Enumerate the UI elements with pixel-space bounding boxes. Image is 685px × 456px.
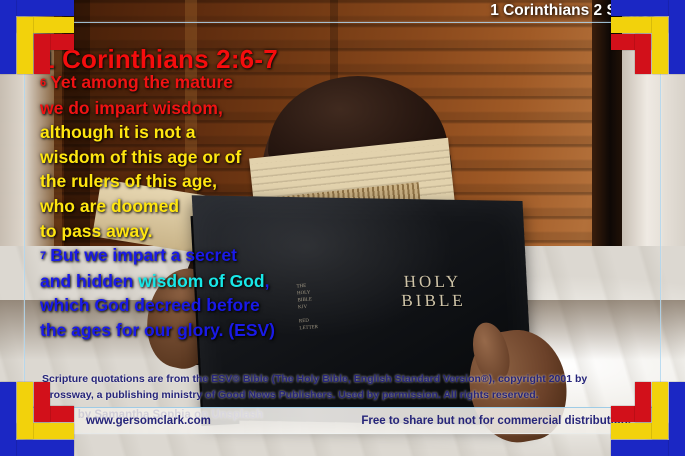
corner-decoration-top-right	[609, 0, 685, 76]
corner-decoration-top-left	[0, 0, 76, 76]
verse-line: we do impart wisdom,	[40, 96, 350, 121]
corner-bar-vertical	[0, 0, 16, 74]
bible-cover-title-line1: HOLY	[403, 272, 462, 291]
corner-bar-vertical	[17, 17, 33, 74]
bible-cover-title: HOLY BIBLE	[362, 272, 504, 310]
verse-number: 7	[40, 250, 49, 262]
corner-bar-vertical	[669, 0, 685, 74]
copyright-notice: Scripture quotations are from the ESV® B…	[42, 372, 632, 403]
verse-line: 6 Yet among the mature	[40, 70, 350, 96]
verse-line: wisdom of this age or of	[40, 145, 350, 170]
bottom-bar: www.gersomclark.com Free to share but no…	[24, 407, 661, 434]
scripture-text: 6 Yet among the maturewe do impart wisdo…	[40, 70, 350, 343]
copyright-line-1: Scripture quotations are from the ESV® B…	[42, 373, 572, 385]
corner-bar-vertical	[0, 382, 16, 456]
corner-bar-vertical	[635, 34, 651, 74]
corner-bar-vertical	[669, 382, 685, 456]
corner-bar-vertical	[635, 382, 651, 422]
corner-bar-vertical	[652, 382, 668, 439]
scripture-slide: THEHOLYBIBLEKJVREDLETTER HOLY BIBLE 1 Co…	[0, 0, 685, 456]
corner-bar-vertical	[17, 382, 33, 439]
highlighted-phrase: wisdom of God	[138, 271, 264, 291]
verse-line: although it is not a	[40, 120, 350, 145]
bible-cover-title-line2: BIBLE	[401, 291, 466, 310]
corner-bar-vertical	[34, 382, 50, 422]
verse-line: who are doomed	[40, 194, 350, 219]
corner-bar-vertical	[34, 34, 50, 74]
website-url[interactable]: www.gersomclark.com	[86, 415, 211, 427]
corner-bar-vertical	[652, 17, 668, 74]
corner-decoration-bottom-left	[0, 380, 76, 456]
verse-line: to pass away.	[40, 219, 350, 244]
verse-line: which God decreed before	[40, 293, 350, 318]
verse-line: 7 But we impart a secret	[40, 243, 350, 269]
verse-line: and hidden wisdom of God,	[40, 269, 350, 294]
verse-line: the rulers of this age,	[40, 169, 350, 194]
share-note: Free to share but not for commercial dis…	[361, 415, 631, 427]
verse-line: the ages for our glory. (ESV)	[40, 318, 350, 343]
corner-decoration-bottom-right	[609, 380, 685, 456]
verse-number: 6	[40, 77, 49, 89]
